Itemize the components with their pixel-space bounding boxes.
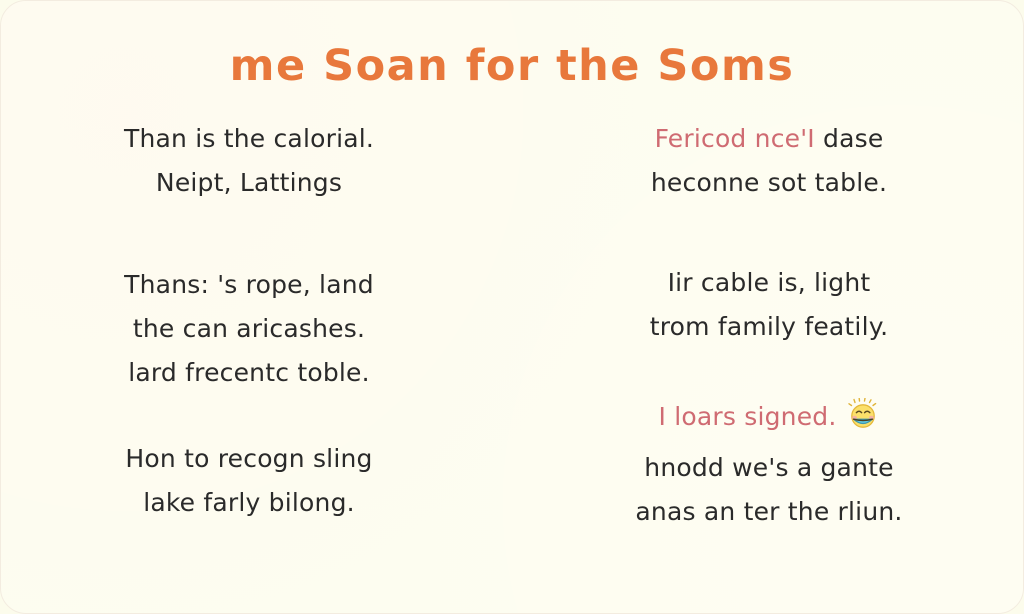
- left-column: Than is the calorial. Neipt, Lattings Th…: [1, 113, 513, 534]
- smiling-face-with-tears-emoji: [846, 398, 880, 446]
- two-column-layout: Than is the calorial. Neipt, Lattings Th…: [1, 113, 1024, 534]
- text-line: Than is the calorial.: [57, 117, 441, 161]
- text-fragment: dase: [815, 124, 884, 153]
- right-column: Fericod nce'I dase heconne sot table. Ii…: [513, 113, 1024, 534]
- text-line: lard frecentc toble.: [57, 351, 441, 395]
- text-line: Fericod nce'I dase: [577, 117, 961, 161]
- text-line: Neipt, Lattings: [57, 161, 441, 205]
- right-paragraph-3: I loars signed. hnodd we's a gante anas …: [577, 395, 961, 534]
- left-paragraph-1: Than is the calorial. Neipt, Lattings: [57, 117, 441, 205]
- text-line: Iir cable is, light: [577, 261, 961, 305]
- accent-text: Fericod nce'I: [655, 124, 815, 153]
- left-paragraph-3: Hon to recogn sling lake farly bilong.: [57, 437, 441, 525]
- text-line: anas an ter the rliun.: [577, 490, 961, 534]
- left-paragraph-2: Thans: 's rope, land the can aricashes. …: [57, 263, 441, 395]
- text-line: lake farly bilong.: [57, 481, 441, 525]
- text-line: heconne sot table.: [577, 161, 961, 205]
- text-line: trom family featily.: [577, 305, 961, 349]
- text-line: Thans: 's rope, land: [57, 263, 441, 307]
- text-line: the can aricashes.: [57, 307, 441, 351]
- text-line: Hon to recogn sling: [57, 437, 441, 481]
- text-line: I loars signed.: [577, 395, 961, 446]
- right-paragraph-1: Fericod nce'I dase heconne sot table.: [577, 117, 961, 205]
- text-line: hnodd we's a gante: [577, 446, 961, 490]
- content-card: me Soan for the Soms Than is the caloria…: [0, 0, 1024, 614]
- right-paragraph-2: Iir cable is, light trom family featily.: [577, 261, 961, 349]
- accent-text: I loars signed.: [658, 402, 836, 431]
- page-title: me Soan for the Soms: [1, 41, 1023, 91]
